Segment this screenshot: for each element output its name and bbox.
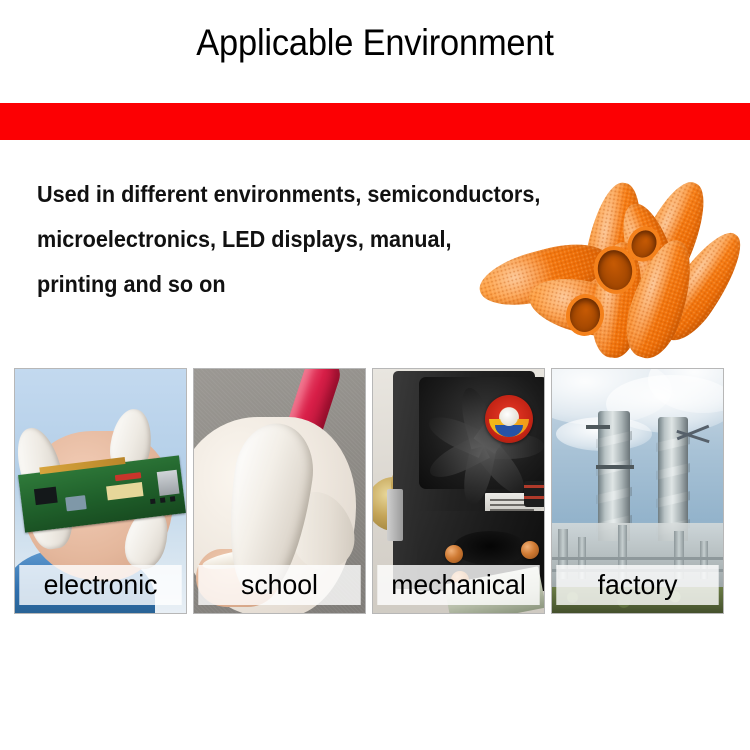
fan-housing (419, 377, 544, 489)
thumbnail-caption: mechanical (377, 565, 539, 605)
stack-platform (596, 465, 634, 469)
page-title: Applicable Environment (26, 22, 724, 64)
fan-hub-sticker (485, 395, 533, 443)
heatsink-body (393, 371, 535, 589)
description-line: Used in different environments, semicond… (37, 172, 563, 217)
thumbnail-caption: electronic (19, 565, 181, 605)
crystal (65, 495, 87, 511)
component (160, 497, 166, 503)
thumbnail-caption: factory (556, 565, 718, 605)
base-cavity (453, 531, 527, 565)
component (170, 496, 176, 502)
copper-heatpipe (445, 545, 463, 563)
pipeline (552, 557, 723, 560)
capacitor (115, 472, 142, 481)
thumbnail-electronic[interactable]: electronic (14, 368, 187, 614)
environment-thumbnail-strip: electronic school (14, 368, 736, 616)
thumbnail-school[interactable]: school (193, 368, 366, 614)
description-line: microelectronics, LED displays, manual, (37, 217, 563, 262)
component (150, 499, 156, 505)
chip (34, 487, 58, 506)
mounting-clip (387, 489, 403, 541)
copper-heatpipe (521, 541, 539, 559)
port (157, 470, 180, 496)
fan-wires (524, 481, 544, 507)
hub-arc-blue (495, 425, 523, 437)
thumbnail-caption: school (198, 565, 360, 605)
red-accent-bar (0, 103, 750, 140)
description-line: printing and so on (37, 262, 563, 307)
board-label (106, 482, 143, 500)
smokestack (598, 411, 630, 541)
description-block: Used in different environments, semicond… (37, 172, 597, 307)
product-infographic: Applicable Environment Used in different… (0, 0, 750, 750)
hub-center (500, 408, 518, 426)
stack-platform (586, 425, 610, 429)
thumbnail-mechanical[interactable]: mechanical (372, 368, 545, 614)
thumbnail-factory[interactable]: factory (551, 368, 724, 614)
